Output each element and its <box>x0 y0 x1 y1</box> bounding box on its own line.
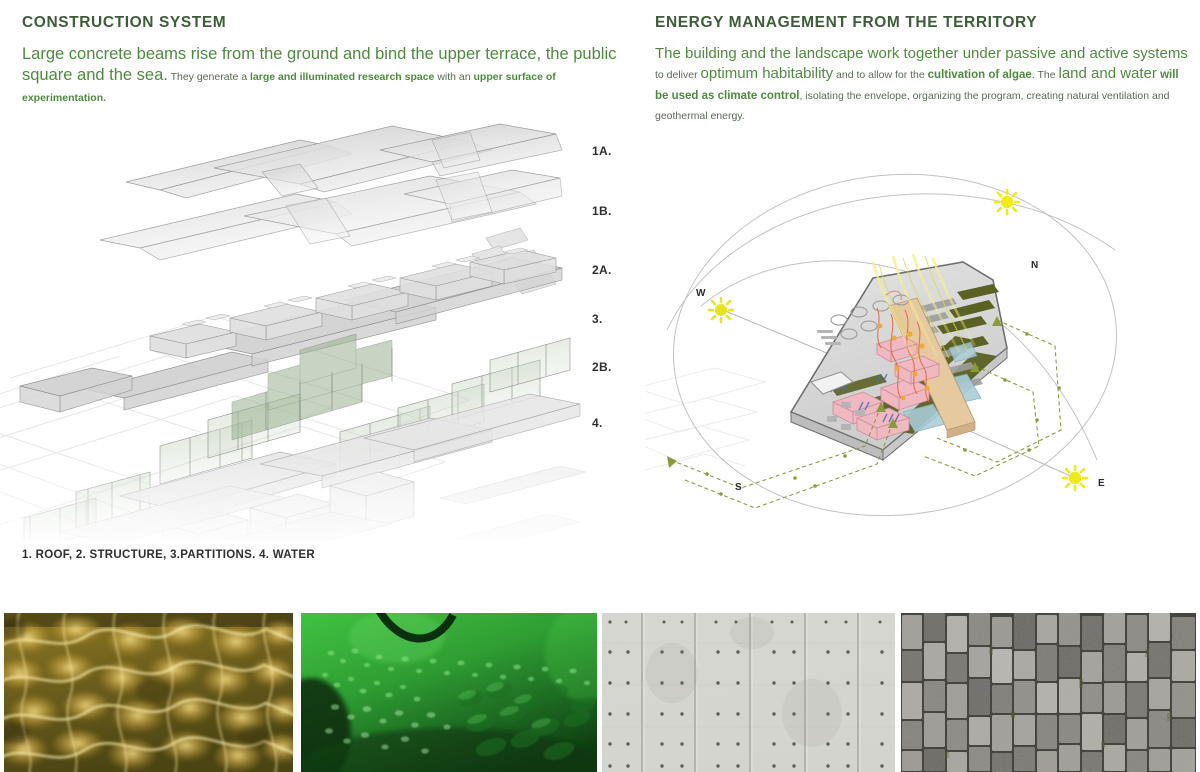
compass-west: W <box>696 288 705 299</box>
exploded-axonometric-diagram <box>0 120 645 540</box>
presentation-board: CONSTRUCTION SYSTEM Large concrete beams… <box>0 0 1200 772</box>
left-panel-title: CONSTRUCTION SYSTEM <box>22 14 226 32</box>
texture-board-concrete <box>602 613 895 772</box>
sun-marker-east <box>1063 466 1087 490</box>
axonometric-layer-labels: 1A. 1B. 2A. 3. 2B. 4. <box>588 120 644 440</box>
water-caustics-svg <box>4 613 293 772</box>
board-concrete-svg <box>602 613 895 772</box>
layer-label-2a: 2A. <box>592 263 612 277</box>
algae-condensation-svg <box>301 613 597 772</box>
layer-label-1b: 1B. <box>592 204 612 218</box>
right-panel: ENERGY MANAGEMENT FROM THE TERRITORY The… <box>645 0 1200 600</box>
lead2-bold-one: cultivation of algae <box>928 69 1032 81</box>
axonometric-svg <box>0 120 645 540</box>
energy-scheme-diagram: N S E W <box>645 130 1200 530</box>
lead2-emphasis-one: The building and the landscape work toge… <box>655 45 1188 62</box>
right-panel-lead: The building and the landscape work toge… <box>655 44 1193 126</box>
energy-svg <box>645 130 1200 530</box>
texture-granite-setts <box>901 613 1196 772</box>
sun-marker-north <box>995 190 1019 214</box>
left-panel: CONSTRUCTION SYSTEM Large concrete beams… <box>0 0 645 600</box>
texture-water-caustics <box>4 613 293 772</box>
layer-label-3: 3. <box>592 312 603 326</box>
compass-north: N <box>1031 260 1038 271</box>
lead2-emphasis-two: optimum habitability <box>701 65 834 82</box>
lead2-small-one: to deliver <box>655 69 701 81</box>
compass-south: S <box>735 482 742 493</box>
lead2-small-three: . The <box>1032 69 1059 81</box>
axonometric-caption: 1. ROOF, 2. STRUCTURE, 3.PARTITIONS. 4. … <box>22 549 315 561</box>
sun-marker-west <box>709 298 733 322</box>
ghost-plan-corner <box>645 368 765 470</box>
texture-algae-condensation <box>301 613 597 772</box>
axo-bottom-fade <box>0 450 645 540</box>
lead2-small-two: and to allow for the <box>833 69 928 81</box>
lead-run-on: They generate a <box>168 71 250 83</box>
compass-east: E <box>1098 478 1105 489</box>
layer-label-1a: 1A. <box>592 144 612 158</box>
left-panel-lead: Large concrete beams rise from the groun… <box>22 44 622 107</box>
material-texture-strip <box>0 613 1200 772</box>
lead-bold-one: large and illuminated research space <box>250 71 434 83</box>
lead2-emphasis-three: land and water <box>1058 65 1156 82</box>
layer-label-2b: 2B. <box>592 360 612 374</box>
lead-mid: with an <box>434 71 473 83</box>
right-panel-title: ENERGY MANAGEMENT FROM THE TERRITORY <box>655 14 1037 32</box>
layer-label-4: 4. <box>592 416 603 430</box>
granite-setts-svg <box>901 613 1196 772</box>
